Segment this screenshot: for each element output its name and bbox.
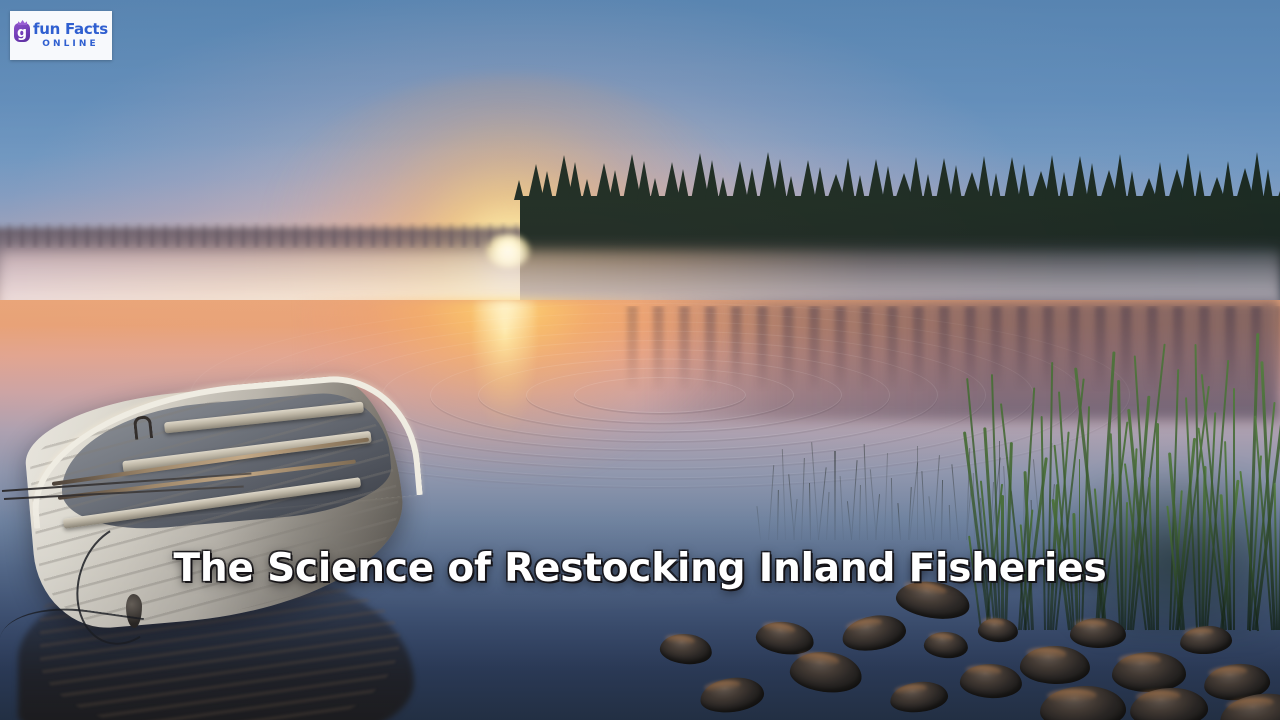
tree-silhouette [950,165,962,200]
logo-inner: g fun Facts ONLINE [14,22,108,49]
tree-silhouette [991,173,1001,200]
tree-silhouette [1154,162,1166,200]
reed-stem [809,483,811,540]
tree-silhouette [568,162,582,200]
shoreline-rock [959,662,1023,699]
reed-stem [864,444,869,540]
tree-silhouette [1018,164,1030,200]
tree-silhouette [1045,155,1059,200]
tree-silhouette [609,170,621,200]
shoreline-rock [1019,645,1090,685]
fun-facts-online-logo[interactable]: g fun Facts ONLINE [10,11,112,60]
tree-silhouette [541,171,553,200]
reed-stem [898,503,902,540]
reed-stem [891,478,893,540]
shoreline-rock [889,679,950,715]
reed-stem [948,505,951,540]
reed-stem [768,465,775,540]
tree-silhouette [841,158,855,200]
tree-silhouette [814,167,826,200]
reed-stem [839,476,844,540]
tree-silhouette [882,166,894,200]
tree-silhouette [1250,152,1264,200]
logo-tagline-text: ONLINE [33,40,108,49]
tree-silhouette [786,176,796,200]
shoreline-rock [659,631,714,666]
reed-stem [793,499,798,540]
tree-silhouette [923,174,933,200]
tree-silhouette [637,161,651,200]
reed-stem [782,449,787,540]
logo-g-mark: g [14,23,30,42]
shoreline-rock [698,674,766,716]
reed-stem [777,490,779,540]
reed-stem [917,446,918,540]
page-title: The Science of Restocking Inland Fisheri… [0,546,1280,591]
reed-stem [801,458,805,540]
tree-silhouette [1195,170,1205,200]
tree-silhouette [514,180,524,200]
reed-stem [921,471,926,540]
tree-silhouette [1059,172,1069,200]
crown-icon [18,20,27,25]
shoreline-rock [1129,687,1208,720]
reed-stem [818,467,827,540]
shoreline-rock [1179,625,1232,656]
tree-silhouette [677,169,689,200]
tree-silhouette [1181,153,1195,200]
reed-stem [851,460,858,540]
shoreline-rock [1040,685,1127,720]
tree-silhouette [582,179,592,200]
tree-silhouette [1127,171,1137,200]
treeline-silhouette [520,158,1280,200]
reed-stem [951,464,959,540]
reed-stem [834,451,835,540]
tree-silhouette [1086,163,1098,200]
logo-g-letter: g [17,26,27,40]
reed-stem [811,442,819,540]
shoreline-rock [840,611,909,655]
tree-silhouette [773,159,787,200]
logo-wordmark-text: fun Facts [33,22,108,37]
reed-stem [859,485,861,540]
reed-stem [826,492,830,540]
reed-stem [875,494,880,540]
oarlock [133,415,153,440]
shoreline-rock [977,617,1019,644]
shoreline-rock [1112,652,1186,692]
tree-silhouette [977,156,991,200]
tree-silhouette [909,157,923,200]
tree-silhouette [718,177,728,200]
tree-silhouette [1113,154,1127,200]
reed-stem [941,480,943,540]
shoreline-rock [1070,618,1127,649]
shoreline-rock [923,630,969,660]
tree-silhouette [746,168,758,200]
reed-stem [884,453,888,540]
tree-silhouette [705,160,719,200]
reed-stem [933,455,940,540]
tree-silhouette [650,178,660,200]
tree-silhouette [1263,169,1273,200]
tree-silhouette [855,175,865,200]
logo-wordmark: fun Facts ONLINE [33,22,108,49]
shoreline-rock [788,648,864,696]
tree-silhouette [1222,161,1234,200]
hero-image-canvas: g fun Facts ONLINE The Science of Restoc… [0,0,1280,720]
